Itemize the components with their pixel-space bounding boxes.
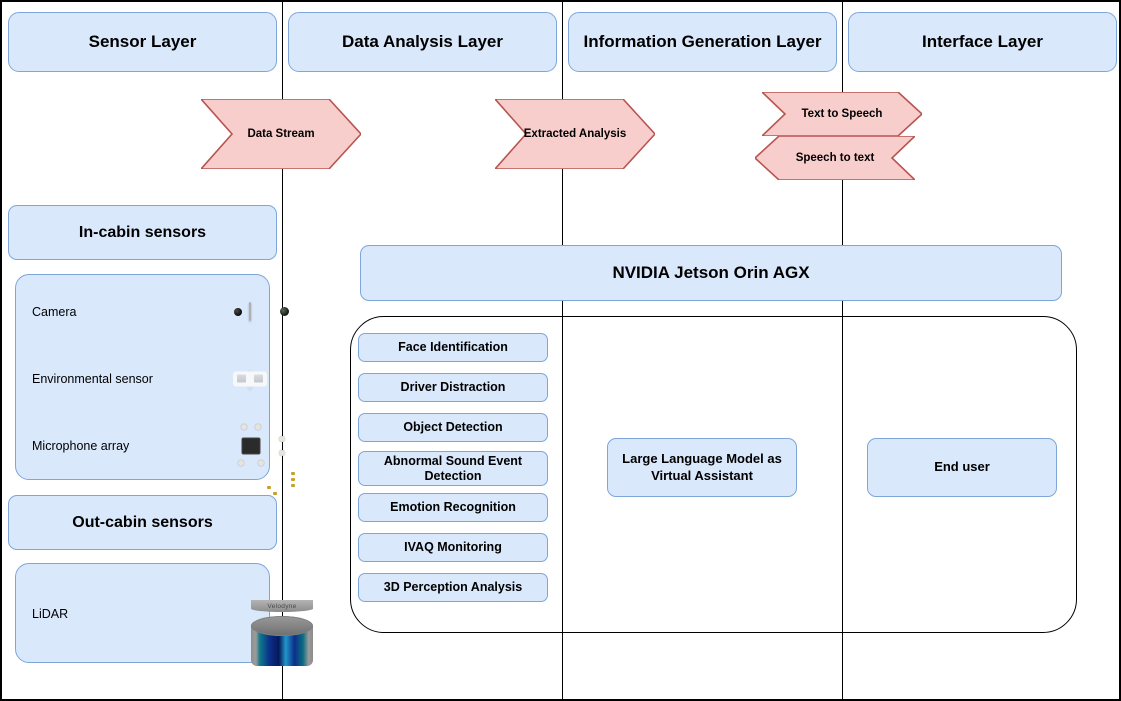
analysis-module-label: Object Detection xyxy=(403,420,502,434)
analysis-module-3d-perception-analysis: 3D Perception Analysis xyxy=(358,573,548,602)
analysis-module-label: IVAQ Monitoring xyxy=(404,540,502,554)
layer-header-interface: Interface Layer xyxy=(848,12,1117,72)
compute-platform-box: NVIDIA Jetson Orin AGX xyxy=(360,245,1062,301)
layer-header-information-generation: Information Generation Layer xyxy=(568,12,837,72)
group-header-in-cabin-sensors: In-cabin sensors xyxy=(8,205,277,260)
layer-header-sensor: Sensor Layer xyxy=(8,12,277,72)
group-header-out-cabin-sensors: Out-cabin sensors xyxy=(8,495,277,550)
analysis-module-emotion-recognition: Emotion Recognition xyxy=(358,493,548,522)
sensor-row-environmental-sensor: Environmental sensor xyxy=(16,342,269,416)
sensor-label: Microphone array xyxy=(32,439,129,453)
group-header-label: In-cabin sensors xyxy=(79,224,206,242)
flow-arrow-speech-to-text: Speech to text xyxy=(755,136,915,180)
flow-arrow-data-stream: Data Stream xyxy=(201,99,361,169)
analysis-module-label: Emotion Recognition xyxy=(390,500,516,514)
flow-arrow-extracted-analysis: Extracted Analysis xyxy=(495,99,655,169)
layer-header-label: Interface Layer xyxy=(922,32,1043,52)
node-label: Large Language Model as Virtual Assistan… xyxy=(616,451,788,484)
camera-device-icon xyxy=(249,303,251,321)
node-end-user: End user xyxy=(867,438,1057,497)
analysis-module-label: Driver Distraction xyxy=(401,380,506,394)
connector-line-6 xyxy=(562,632,563,701)
flow-arrow-label: Speech to text xyxy=(796,152,875,164)
layer-header-label: Sensor Layer xyxy=(89,32,197,52)
architecture-diagram: Sensor Layer Data Analysis Layer Informa… xyxy=(0,0,1121,701)
analysis-module-label: Abnormal Sound Event Detection xyxy=(363,454,543,483)
analysis-module-label: 3D Perception Analysis xyxy=(384,580,522,594)
connector-line-7 xyxy=(842,632,843,701)
analysis-module-ivaq-monitoring: IVAQ Monitoring xyxy=(358,533,548,562)
analysis-module-abnormal-sound-event-detection: Abnormal Sound Event Detection xyxy=(358,451,548,486)
layer-header-data-analysis: Data Analysis Layer xyxy=(288,12,557,72)
compute-platform-label: NVIDIA Jetson Orin AGX xyxy=(612,263,809,283)
layer-header-label: Information Generation Layer xyxy=(583,32,821,52)
sensor-label: LiDAR xyxy=(32,607,68,621)
flow-arrow-text-to-speech: Text to Speech xyxy=(762,92,922,136)
sensor-panel-in-cabin: Camera Environmental sensor xyxy=(15,274,270,480)
sensor-row-microphone-array: Microphone array xyxy=(16,409,269,483)
sensor-label: Environmental sensor xyxy=(32,372,153,386)
node-large-language-model: Large Language Model as Virtual Assistan… xyxy=(607,438,797,497)
node-label: End user xyxy=(934,459,990,475)
connector-line-5 xyxy=(842,301,843,317)
flow-arrow-label: Data Stream xyxy=(247,128,314,140)
group-header-label: Out-cabin sensors xyxy=(72,514,212,532)
sensor-panel-out-cabin: LiDAR Velodyne xyxy=(15,563,270,663)
lidar-brand-label: Velodyne xyxy=(251,603,313,610)
sensor-row-lidar: LiDAR Velodyne xyxy=(16,577,269,651)
analysis-module-driver-distraction: Driver Distraction xyxy=(358,373,548,402)
flow-arrow-label: Extracted Analysis xyxy=(524,128,626,140)
connector-line-4 xyxy=(562,301,563,317)
sensor-label: Camera xyxy=(32,305,76,319)
environmental-sensor-device-icon xyxy=(249,370,251,388)
analysis-module-face-identification: Face Identification xyxy=(358,333,548,362)
sensor-row-camera: Camera xyxy=(16,275,269,349)
flow-arrow-label: Text to Speech xyxy=(802,108,883,120)
layer-header-label: Data Analysis Layer xyxy=(342,32,503,52)
analysis-module-label: Face Identification xyxy=(398,340,508,354)
analysis-module-object-detection: Object Detection xyxy=(358,413,548,442)
